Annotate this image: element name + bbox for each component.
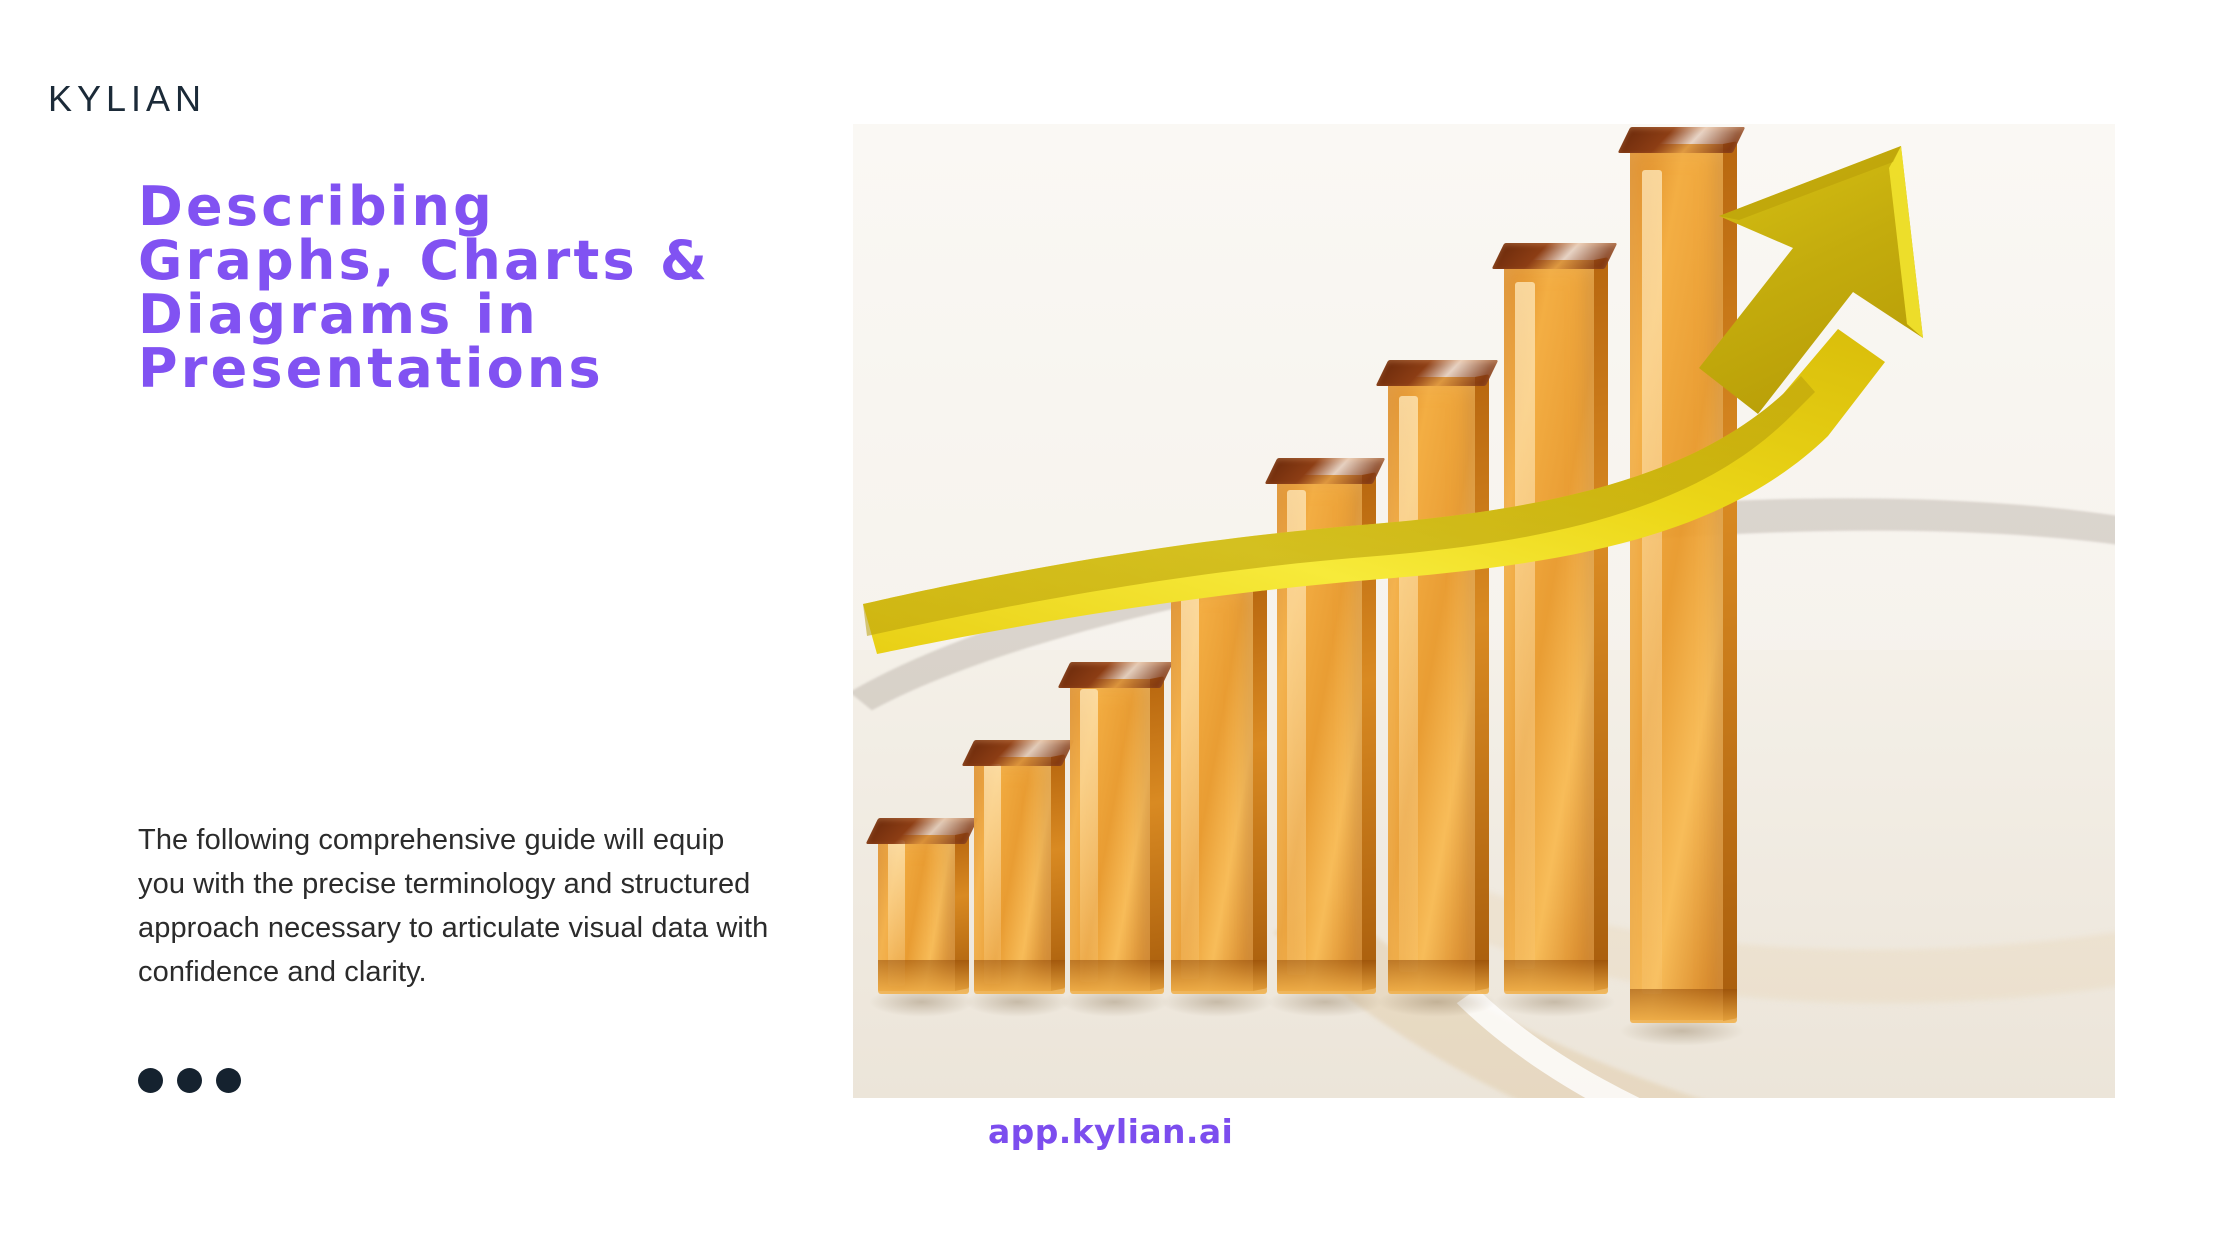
bar-top <box>962 740 1075 766</box>
bar-top <box>1265 458 1385 484</box>
bar-2 <box>974 757 1052 991</box>
bar-gloss <box>1181 594 1199 979</box>
title-line-4: Presentations <box>138 342 798 396</box>
footer-url[interactable]: app.kylian.ai <box>988 1112 1233 1151</box>
bar-gloss <box>1515 282 1535 969</box>
bar-base <box>1504 960 1608 994</box>
bar-gloss <box>1080 689 1098 982</box>
bar-base <box>1277 960 1376 994</box>
bar-top <box>1492 243 1618 269</box>
bar-top <box>1618 127 1746 153</box>
bar-top <box>866 818 979 844</box>
bar-1 <box>878 835 956 991</box>
bar-3 <box>1070 679 1151 991</box>
bar-gloss <box>1399 396 1418 973</box>
bar-top <box>1376 360 1499 386</box>
bar-top <box>1058 662 1173 688</box>
bar-4 <box>1171 582 1254 991</box>
bar-base <box>1171 960 1267 994</box>
bar-side <box>1475 375 1489 991</box>
bar-gloss <box>984 764 1001 984</box>
dot-3 <box>216 1068 241 1093</box>
hero-image-3d-bar-chart <box>853 124 2115 1098</box>
slide-root: KYLIAN Describing Graphs, Charts & Diagr… <box>0 0 2240 1260</box>
title-line-3: Diagrams in <box>138 288 798 342</box>
bar-base <box>878 960 969 994</box>
bar-base <box>974 960 1065 994</box>
bar-side <box>1594 258 1608 991</box>
page-title: Describing Graphs, Charts & Diagrams in … <box>138 180 798 396</box>
bar-base <box>1070 960 1164 994</box>
bar-side <box>1362 472 1376 991</box>
bar-6 <box>1388 377 1476 991</box>
title-line-2: Graphs, Charts & <box>138 234 798 288</box>
title-line-1: Describing <box>138 180 798 234</box>
bar-side <box>1051 754 1065 990</box>
bar-top <box>1159 565 1277 591</box>
dot-1 <box>138 1068 163 1093</box>
dot-decoration <box>138 1068 241 1093</box>
bar-side <box>1150 676 1164 990</box>
bar-7 <box>1504 260 1595 991</box>
bar-8 <box>1630 144 1723 1021</box>
title-block: Describing Graphs, Charts & Diagrams in … <box>138 180 798 396</box>
bar-base <box>1630 989 1736 1023</box>
bar-side <box>1253 579 1267 991</box>
bar-group <box>853 124 2115 1098</box>
bar-gloss <box>1287 490 1306 975</box>
body-paragraph: The following comprehensive guide will e… <box>138 818 778 994</box>
bar-gloss <box>1642 170 1663 994</box>
bar-base <box>1388 960 1489 994</box>
bar-5 <box>1277 475 1363 991</box>
brand-logo: KYLIAN <box>48 78 206 120</box>
bar-side <box>1723 141 1737 1020</box>
dot-2 <box>177 1068 202 1093</box>
